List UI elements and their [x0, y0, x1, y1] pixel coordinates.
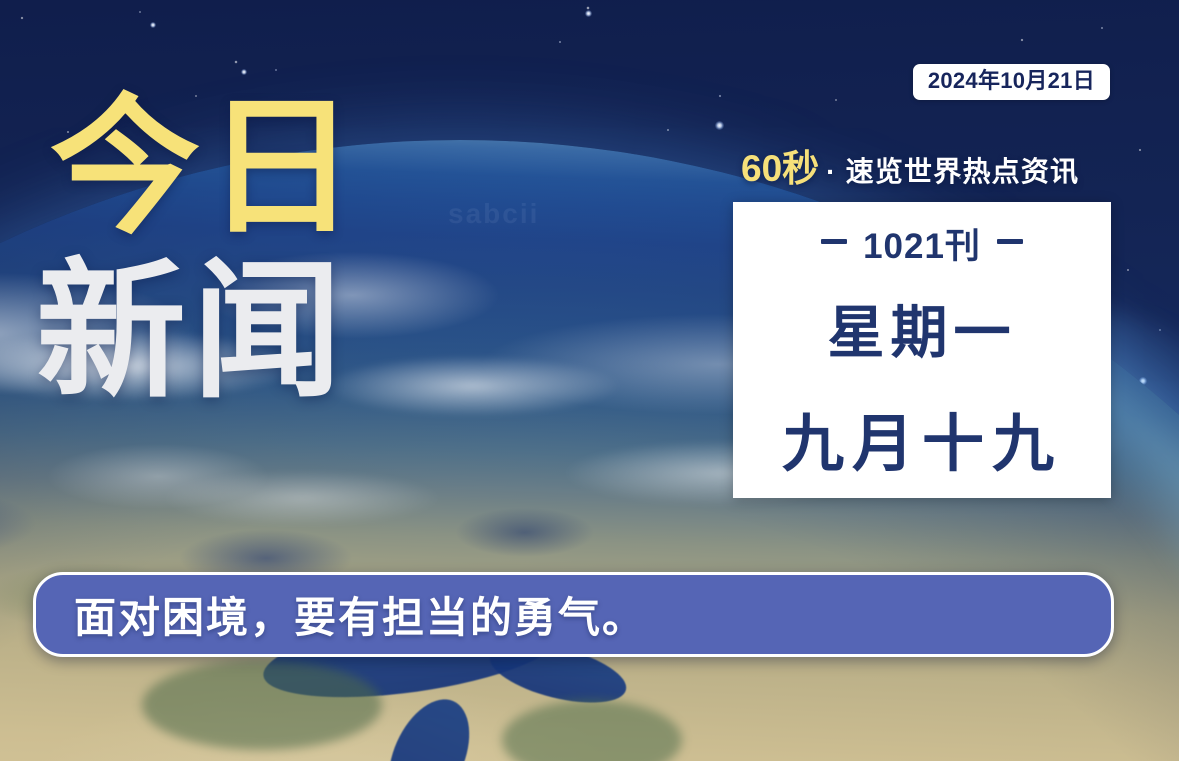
issue-number-row: 1021刊 — [821, 218, 1023, 269]
title-line-xinwen: 新闻 — [36, 260, 362, 404]
news-poster: sabcii 2024年10月21日 今日 新闻 60秒 · 速览世界热点资讯 … — [0, 0, 1179, 761]
lunar-date-label: 九月十九 — [782, 393, 1062, 483]
dash-left-icon — [821, 239, 847, 244]
tagline: 60秒 · 速览世界热点资讯 — [733, 138, 1111, 192]
quote-text: 面对困境，要有担当的勇气。 — [74, 584, 646, 645]
tagline-seconds: 60秒 — [741, 138, 819, 192]
page-title: 今日 新闻 — [50, 96, 362, 404]
date-info-card: 1021刊 星期一 九月十九 — [733, 202, 1111, 498]
title-line-jinri: 今日 — [50, 96, 362, 240]
date-badge: 2024年10月21日 — [913, 64, 1110, 100]
info-panel: 60秒 · 速览世界热点资讯 1021刊 星期一 九月十九 — [733, 138, 1111, 498]
tagline-rest: · 速览世界热点资讯 — [826, 150, 1079, 190]
weekday-label: 星期一 — [828, 287, 1017, 369]
dash-right-icon — [997, 239, 1023, 244]
quote-bar: 面对困境，要有担当的勇气。 — [33, 572, 1114, 657]
issue-number: 1021刊 — [863, 218, 981, 269]
